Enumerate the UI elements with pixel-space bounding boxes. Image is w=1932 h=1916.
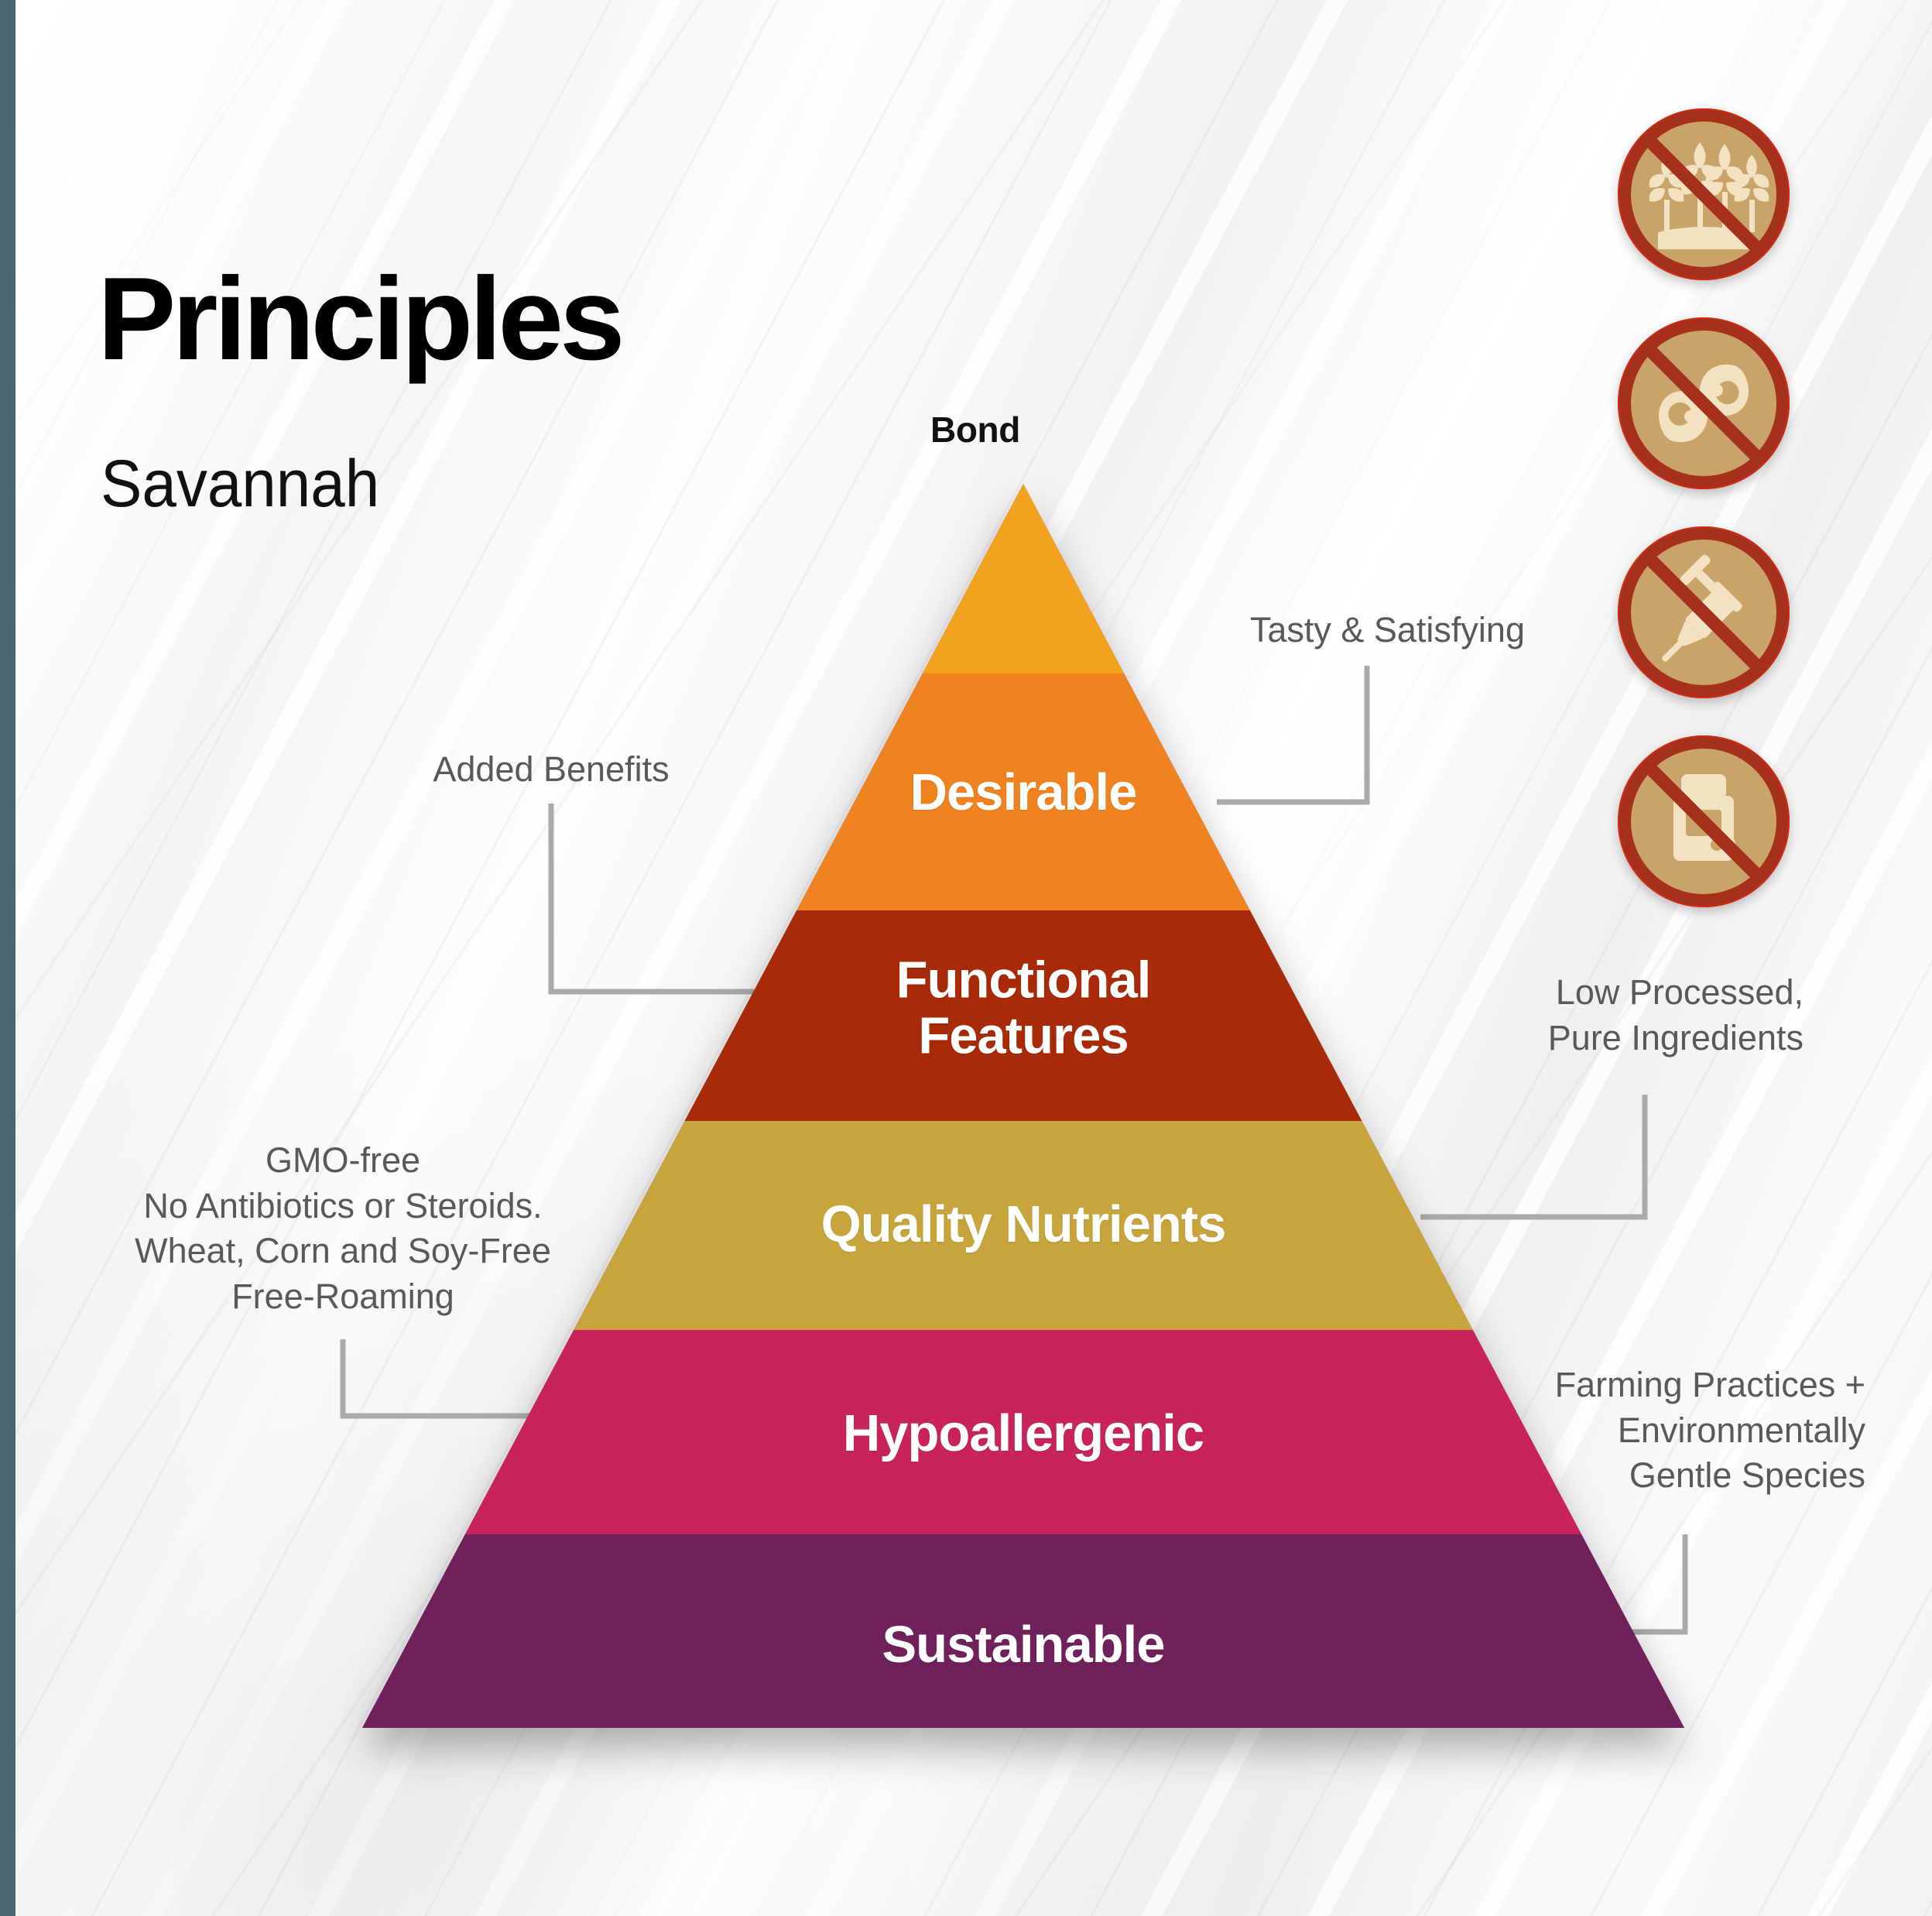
infographic-canvas: Principles Savannah: [0, 0, 1932, 1916]
badge-no-gmo[interactable]: [1618, 317, 1790, 489]
pyramid-apex-label: Bond: [930, 409, 1020, 451]
badge-no-pills[interactable]: [1618, 735, 1790, 907]
badge-no-syringe[interactable]: [1618, 526, 1790, 698]
pyramid-label-desirable: Desirable: [910, 765, 1137, 821]
pyramid-label-functional: Functional Features: [896, 953, 1151, 1065]
callout-added-benefits: Added Benefits: [396, 747, 706, 793]
badge-no-wheat[interactable]: [1618, 108, 1790, 280]
pyramid-label-quality: Quality Nutrients: [821, 1197, 1226, 1253]
callout-tasty-satisfying: Tasty & Satisfying: [1164, 608, 1525, 653]
pyramid-label-sustainable: Sustainable: [882, 1617, 1164, 1673]
callout-farming-practices: Farming Practices + Environmentally Gent…: [1401, 1362, 1865, 1499]
callout-sourcing-standards: GMO-free No Antibiotics or Steroids. Whe…: [87, 1138, 598, 1319]
pyramid-label-hypoallergenic: Hypoallergenic: [843, 1406, 1204, 1462]
callout-pure-ingredients: Low Processed, Pure Ingredients: [1362, 970, 1804, 1061]
principles-pyramid: Bond Desirable Functional Features Quali…: [0, 0, 1932, 1916]
